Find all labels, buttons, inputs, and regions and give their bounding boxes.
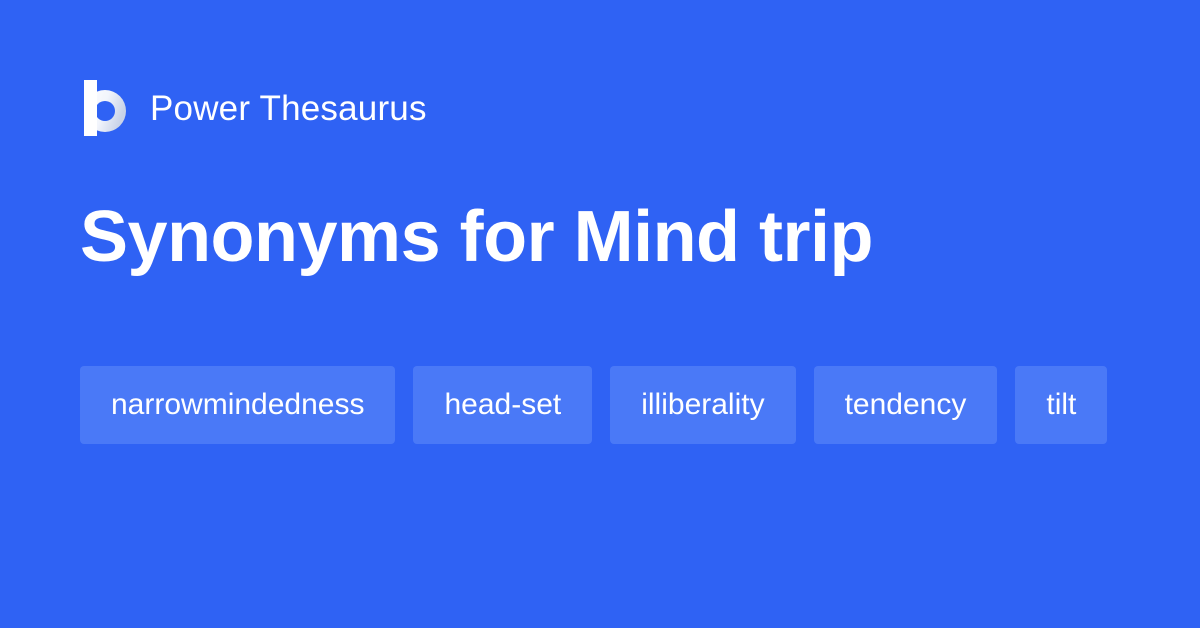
synonym-chip[interactable]: head-set (413, 366, 592, 444)
brand-header[interactable]: Power Thesaurus (80, 80, 427, 136)
synonym-chip[interactable]: tilt (1015, 366, 1107, 444)
share-card: Power Thesaurus Synonyms for Mind trip n… (0, 0, 1200, 628)
power-thesaurus-b-logo-icon (80, 80, 128, 136)
synonym-chip[interactable]: tendency (814, 366, 998, 444)
synonym-chip-list: narrowmindedness head-set illiberality t… (80, 366, 1120, 444)
brand-name: Power Thesaurus (150, 91, 427, 126)
synonym-chip[interactable]: illiberality (610, 366, 795, 444)
page-title: Synonyms for Mind trip (80, 196, 873, 280)
synonym-chip[interactable]: narrowmindedness (80, 366, 395, 444)
